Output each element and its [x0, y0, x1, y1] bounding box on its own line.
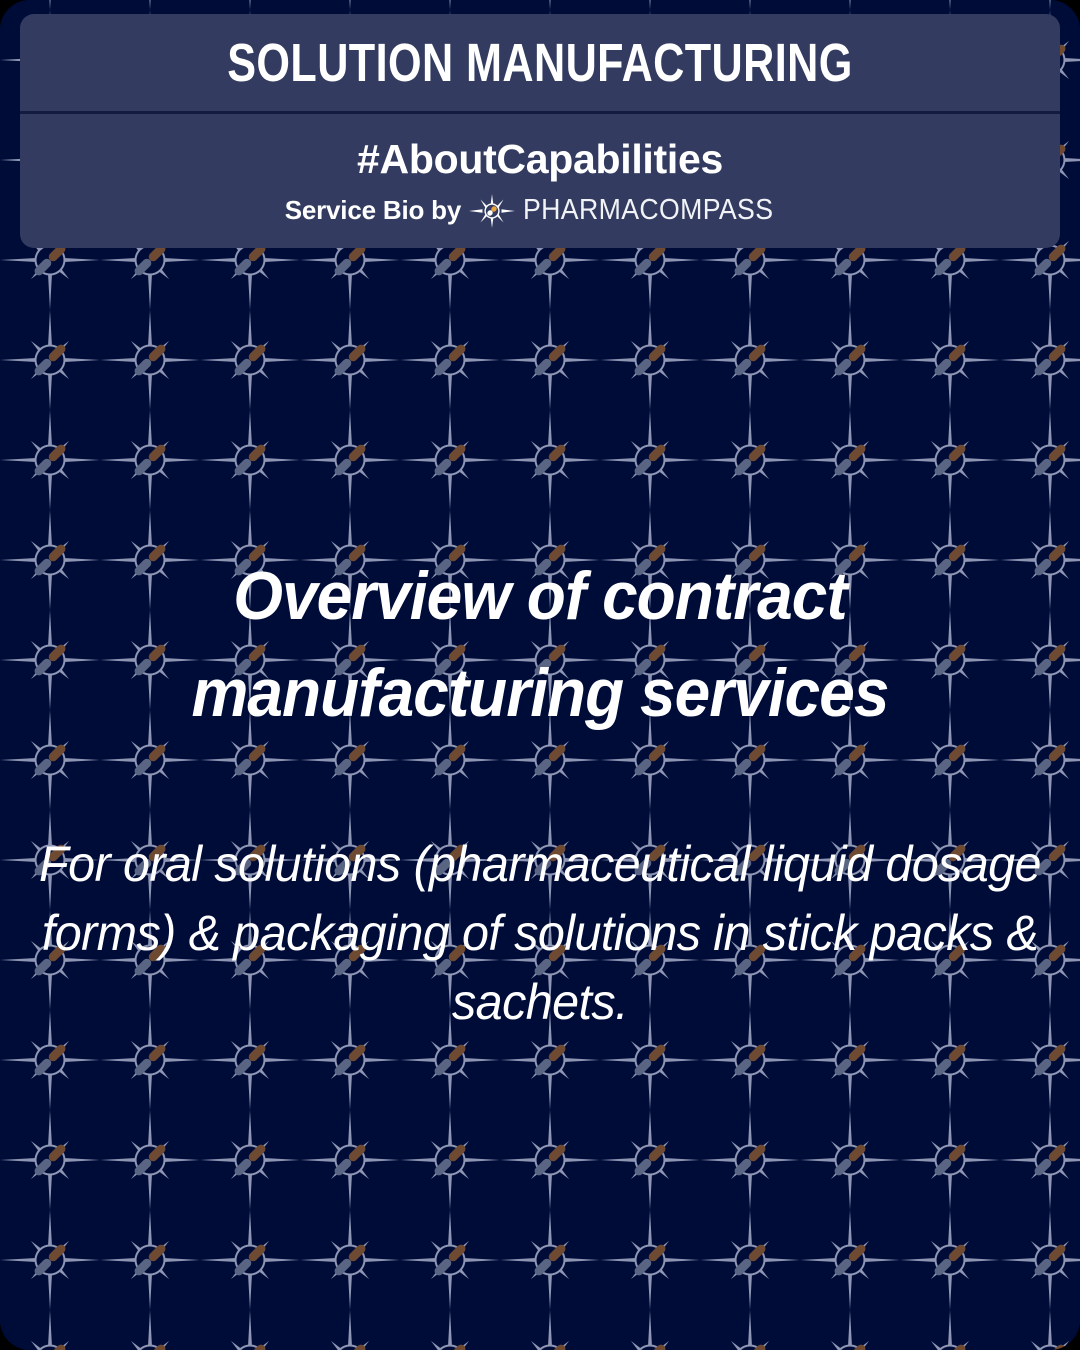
main-content: Overview of contract manufacturing servi… [0, 248, 1080, 1350]
brand-name: PHARMACOMPASS [523, 194, 773, 227]
byline: Service Bio by [285, 194, 796, 228]
page-title: SOLUTION MANUFACTURING [227, 36, 853, 90]
description-text: For oral solutions (pharmaceutical liqui… [36, 830, 1045, 1037]
headline: Overview of contract manufacturing servi… [70, 548, 1010, 741]
header-panel: SOLUTION MANUFACTURING #AboutCapabilitie… [20, 14, 1060, 248]
byline-prefix: Service Bio by [285, 195, 461, 226]
compass-pill-icon [469, 194, 515, 228]
social-card: SOLUTION MANUFACTURING #AboutCapabilitie… [0, 0, 1080, 1350]
hashtag-label: #AboutCapabilities [357, 138, 723, 181]
header-title-row: SOLUTION MANUFACTURING [20, 14, 1060, 111]
header-subsection: #AboutCapabilities Service Bio by [20, 114, 1060, 248]
